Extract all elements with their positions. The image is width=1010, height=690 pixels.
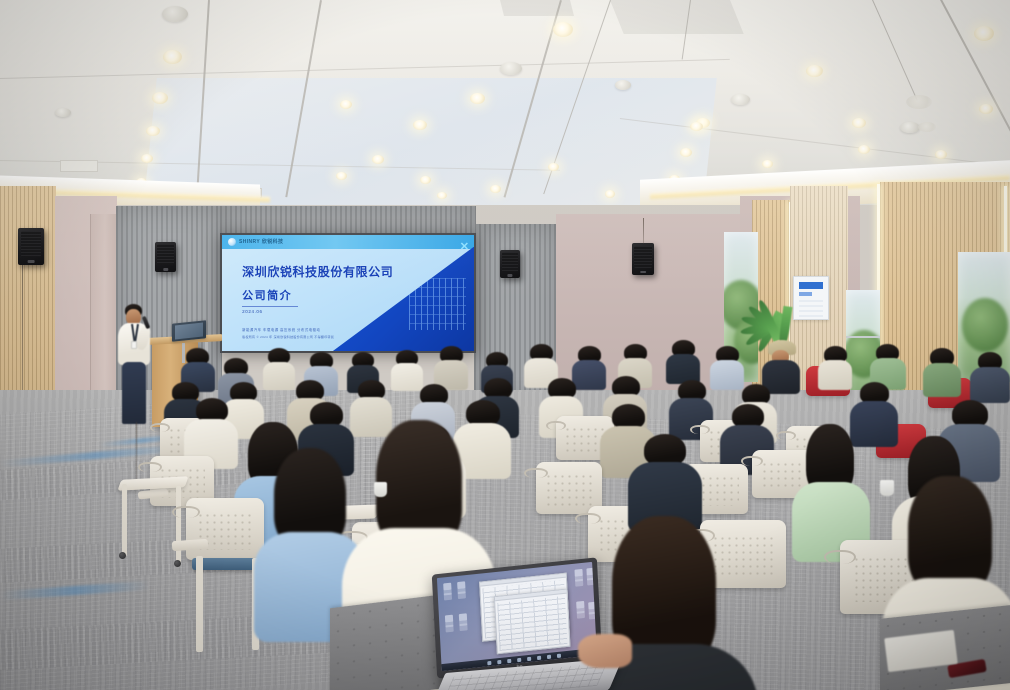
- long-hair: [908, 476, 992, 594]
- smoke-detector-icon: [900, 122, 920, 133]
- speaker-grille-icon: [157, 244, 174, 265]
- lectern-laptop: [172, 320, 206, 342]
- slide-title: 深圳欣锐科技股份有限公司: [242, 263, 393, 280]
- notice-accent-bar: [799, 282, 823, 289]
- speaker-badge: [28, 260, 35, 263]
- ceiling-downlight: [141, 154, 153, 163]
- chair-frame: [176, 486, 181, 566]
- taskbar-icon[interactable]: [537, 655, 541, 659]
- speaker-badge: [640, 271, 646, 274]
- laptop-lid: hp: [432, 557, 603, 678]
- taskbar-icon[interactable]: [547, 654, 551, 658]
- window-mullion: [846, 336, 880, 338]
- slide-footer-line-2: 版权所有 © 2024 年 深圳欣锐科技股份有限公司 不得翻印转载: [242, 335, 334, 339]
- ceiling: [0, 0, 1010, 205]
- presenter-badge: [131, 341, 137, 349]
- desktop-icon[interactable]: [459, 613, 467, 621]
- ceiling-downlight: [340, 100, 352, 109]
- acoustic-slat-panel: [220, 206, 476, 234]
- slide-footer-line-1: 新能源汽车 车载电源 高压系统 分布式电驱动: [242, 327, 320, 332]
- speaker-cable: [643, 218, 644, 244]
- wall-speaker: [18, 228, 44, 265]
- wall-notice-board: [793, 276, 829, 320]
- slide-date: 2024.06: [242, 309, 262, 314]
- chair-caster: [174, 560, 181, 567]
- slide-technical-graphic: [409, 278, 465, 330]
- laptop-lid: [175, 322, 204, 339]
- ceiling-downlight: [336, 172, 347, 180]
- desktop-icon[interactable]: [576, 601, 584, 609]
- taskbar-icon[interactable]: [557, 653, 561, 657]
- smoke-detector-icon: [162, 6, 188, 22]
- wall-speaker: [500, 250, 520, 278]
- ceiling-downlight: [553, 22, 573, 37]
- slide-logo-text: SHINRY 欣锐科技: [239, 238, 283, 245]
- water-cup: [880, 480, 894, 496]
- ceiling-downlight: [152, 92, 168, 104]
- slide-corner-mark-icon: ✕: [460, 242, 469, 253]
- chair-caster: [119, 552, 126, 559]
- desktop-icon[interactable]: [457, 581, 465, 589]
- ceiling-downlight: [605, 190, 615, 198]
- desktop-icon[interactable]: [443, 583, 451, 591]
- desktop-icon[interactable]: [586, 568, 594, 576]
- slide-subtitle: 公司简介: [242, 287, 292, 303]
- laptop-screen: [437, 562, 597, 671]
- lectern-leg: [182, 343, 185, 363]
- smoke-detector-icon: [615, 80, 631, 90]
- smoke-detector-icon: [731, 94, 750, 105]
- slide-header-bar: SHINRY 欣锐科技: [222, 235, 474, 249]
- wall-speaker: [155, 242, 176, 272]
- floor-cable: [136, 422, 137, 484]
- ceiling-downlight: [918, 122, 936, 132]
- ceiling-downlight: [906, 95, 932, 109]
- ceiling-downlight: [852, 118, 866, 128]
- taskbar-icon[interactable]: [527, 656, 531, 660]
- chair-frame: [196, 556, 203, 652]
- speaker-grille-icon: [21, 231, 42, 257]
- slide-divider: [242, 306, 297, 307]
- ceiling-downlight: [690, 122, 703, 131]
- taskbar-icon[interactable]: [497, 659, 501, 663]
- taskbar-icon[interactable]: [487, 660, 491, 664]
- speaker-grille-icon: [502, 252, 518, 272]
- taskbar-icon[interactable]: [517, 657, 521, 661]
- desktop-icon[interactable]: [574, 569, 582, 577]
- conference-room-photo: SHINRY 欣锐科技 ✕ 深圳欣锐科技股份有限公司 公司简介 2024.06 …: [0, 0, 1010, 690]
- company-logo-icon: [228, 238, 236, 246]
- app-window-front[interactable]: [494, 589, 571, 655]
- ceiling-downlight: [413, 120, 427, 130]
- ceiling-downlight: [548, 163, 559, 171]
- ceiling-downlight: [974, 26, 994, 41]
- ceiling-downlight: [858, 145, 870, 154]
- ceiling-downlight: [372, 155, 384, 164]
- notice-body: [799, 300, 823, 320]
- ceiling-downlight: [680, 148, 692, 157]
- speaker-grille-icon: [634, 246, 652, 268]
- speaker-badge: [163, 268, 168, 271]
- notice-accent-bar: [799, 292, 812, 296]
- smoke-detector-icon: [55, 108, 71, 117]
- desktop-icon[interactable]: [588, 602, 596, 610]
- projection-screen: SHINRY 欣锐科技 ✕ 深圳欣锐科技股份有限公司 公司简介 2024.06 …: [220, 233, 476, 353]
- ceiling-downlight: [490, 185, 501, 193]
- presenter-legs: [122, 362, 146, 424]
- ceiling-downlight: [437, 192, 447, 199]
- ceiling-downlight: [470, 93, 485, 104]
- ceiling-downlight: [979, 104, 993, 114]
- spreadsheet-grid: [497, 596, 567, 651]
- desktop-icon[interactable]: [445, 615, 453, 623]
- ceiling-downlight: [163, 50, 182, 64]
- smoke-detector-icon: [500, 62, 522, 75]
- ceiling-downlight: [806, 65, 823, 77]
- ceiling-downlight: [420, 176, 431, 184]
- presentation-slide: SHINRY 欣锐科技 ✕ 深圳欣锐科技股份有限公司 公司简介 2024.06 …: [222, 235, 474, 351]
- ceiling-downlight: [762, 160, 773, 168]
- speaker-badge: [507, 274, 512, 277]
- taskbar-icon[interactable]: [507, 658, 511, 662]
- water-cup: [374, 482, 387, 497]
- chair-frame: [122, 484, 127, 556]
- ceiling-downlight: [935, 150, 947, 159]
- wall-speaker: [632, 243, 654, 275]
- ceiling-downlight: [146, 126, 160, 136]
- ceiling-vent: [60, 160, 98, 172]
